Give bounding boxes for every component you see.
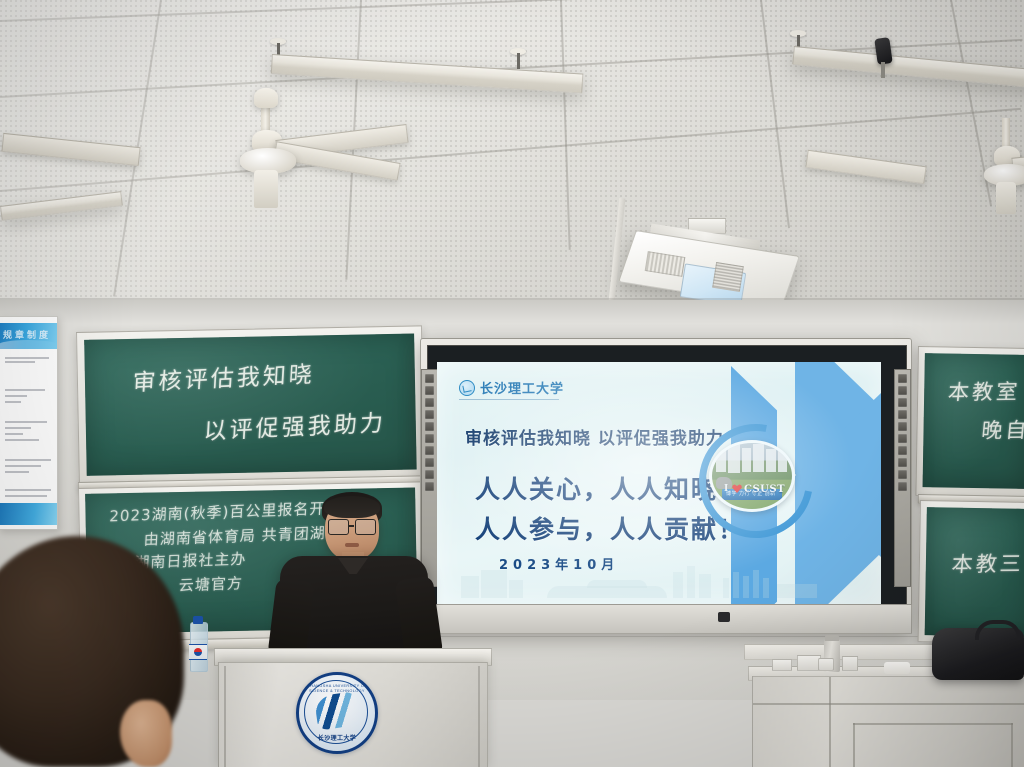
security-camera (872, 38, 902, 80)
toolbar-button-power-icon[interactable] (425, 374, 434, 383)
poster-header-bar: 规章制度 (0, 323, 57, 349)
blackboard-chalk-line: 以评促强我助力 (203, 404, 387, 447)
toolbar-button-menu-icon[interactable] (425, 422, 434, 431)
blackboard-left-upper-surface: 审核评估我知晓 以评促强我助力 (84, 334, 417, 476)
poster-text-line (5, 489, 51, 491)
fan-downrod-shade (996, 182, 1016, 214)
projected-slide: 长沙理工大学 审核评估我知晓 以评促强我助力 人人关心，人人知晓， 人人参与，人… (437, 362, 881, 604)
podium-side-seam (478, 666, 480, 767)
student-ear-foreground (120, 700, 172, 767)
poster-footer-bar (0, 503, 57, 525)
whiteboard-bottom-bezel (420, 604, 912, 634)
toolbar-button-home-icon[interactable] (425, 434, 434, 443)
whiteboard-right-toolbar[interactable] (894, 369, 911, 587)
toolbar-button-volume-down-icon[interactable] (898, 410, 907, 419)
camera-body (874, 37, 892, 65)
poster-text-line (5, 465, 41, 467)
glasses-bridge (348, 525, 354, 527)
podium-university-emblem: CHANGSHA UNIVERSITY OF SCIENCE & TECHNOL… (296, 672, 378, 754)
presenter-mouth (345, 543, 359, 547)
toolbar-button-volume-up-icon[interactable] (898, 398, 907, 407)
desk-box-3 (842, 656, 858, 671)
wall-notice-poster: 规章制度 (0, 316, 58, 530)
emblem-chinese-name: 长沙理工大学 (299, 733, 375, 742)
presenter-hair-front (324, 496, 380, 518)
counter-cabinet (752, 676, 1024, 767)
slide-university-logo: 长沙理工大学 (459, 378, 564, 397)
poster-text-line (5, 427, 31, 429)
wall-shadow-top (0, 298, 1024, 324)
blackboard-right-lower-surface: 本教三 (925, 507, 1024, 637)
poster-text-line (5, 361, 35, 363)
whiteboard-ir-sensor (718, 612, 730, 622)
toolbar-button-source-icon[interactable] (425, 386, 434, 395)
cabinet-door-outline[interactable] (853, 723, 855, 767)
toolbar-button-menu-icon[interactable] (898, 422, 907, 431)
poster-text-line (5, 495, 47, 497)
slide-date: 2023年10月 (499, 554, 619, 573)
slide-logo-text: 长沙理工大学 (480, 378, 564, 397)
toolbar-button-eraser-icon[interactable] (425, 458, 434, 467)
cabinet-door-outline[interactable] (1011, 723, 1013, 767)
poster-text-line (5, 433, 23, 435)
poster-text-line (5, 389, 45, 391)
toolbar-button-settings-icon[interactable] (898, 482, 907, 491)
bottle-label (189, 644, 207, 660)
blackboard-chalk-line: 审核评估我知晓 (132, 355, 316, 398)
poster-text-line (5, 395, 27, 397)
projector-speaker (712, 262, 744, 292)
poster-text-line (5, 357, 49, 359)
toolbar-button-power-icon[interactable] (898, 374, 907, 383)
slide-title: 审核评估我知晓 以评促强我助力 (465, 424, 724, 449)
glasses-lens-right (355, 519, 376, 535)
toolbar-button-pen-icon[interactable] (898, 446, 907, 455)
bottle-cap (193, 616, 203, 624)
glasses-lens-left (328, 519, 349, 535)
poster-text-line (5, 459, 51, 461)
toolbar-button-source-icon[interactable] (898, 386, 907, 395)
blackboard-chalk-line: 2023湖南(秋季)百公里报名开始 (109, 497, 342, 527)
toolbar-button-pen-icon[interactable] (425, 446, 434, 455)
blackboard-chalk-line: 云塘官方 (178, 572, 243, 595)
toolbar-button-home-icon[interactable] (898, 434, 907, 443)
badge-acronym: CSUST (744, 484, 785, 495)
bottle-logo-icon (194, 648, 202, 656)
podium-side-seam (224, 666, 226, 767)
poster-text-line (5, 471, 29, 473)
blackboard-right-upper-frame: 本教室 晚自 (915, 346, 1024, 498)
tissue-pack (884, 662, 910, 674)
whiteboard-left-toolbar[interactable] (421, 369, 438, 587)
badge-campus-photo: 博学 力行 守正 创新 I CSUST (709, 440, 795, 512)
slide-logo-underline (459, 399, 559, 400)
desk-box-2 (772, 659, 792, 671)
poster-text-line (5, 401, 21, 403)
toolbar-button-screenshot-icon[interactable] (425, 470, 434, 479)
poster-header-title: 规章制度 (3, 328, 51, 341)
fan-downrod-shade (254, 170, 278, 208)
ceiling-fan-right (898, 118, 1024, 228)
toolbar-button-volume-down-icon[interactable] (425, 410, 434, 419)
toolbar-button-volume-up-icon[interactable] (425, 398, 434, 407)
cabinet-seam (829, 677, 831, 767)
emblem-english-name: CHANGSHA UNIVERSITY OF SCIENCE & TECHNOL… (301, 683, 373, 693)
blackboard-right-upper-surface: 本教室 晚自 (923, 353, 1024, 489)
slide-campus-badge: 博学 力行 守正 创新 I CSUST (695, 420, 805, 530)
classroom-photo-scene: 规章制度 审核评估我知晓 以评促强我助力 2023湖南(秋季)百公里报名开始 由… (0, 0, 1024, 767)
poster-text-line (5, 439, 39, 441)
badge-i-text: I (724, 484, 728, 494)
university-seal-icon (459, 380, 475, 396)
cabinet-seam (753, 703, 1024, 705)
blackboard-left-frame: 审核评估我知晓 以评促强我助力 (76, 325, 425, 484)
toolbar-button-eraser-icon[interactable] (898, 458, 907, 467)
fan-canopy (254, 88, 278, 108)
toolbar-button-settings-icon[interactable] (425, 482, 434, 491)
poster-text-line (5, 421, 47, 423)
light-rod (517, 53, 520, 69)
blackboard-chalk-line: 本教三 (950, 548, 1024, 579)
thermos-cap (825, 635, 839, 641)
blackboard-chalk-line: 晚自 (980, 414, 1024, 444)
camera-mount (881, 62, 885, 78)
presenter-glasses (327, 519, 377, 535)
bag-strap (975, 620, 1021, 640)
cabinet-door-outline[interactable] (853, 723, 1013, 725)
toolbar-button-screenshot-icon[interactable] (898, 470, 907, 479)
ceiling-fan-left (126, 86, 426, 212)
desk-cup (818, 658, 834, 671)
blackboard-chalk-line: 本教室 (947, 376, 1022, 407)
